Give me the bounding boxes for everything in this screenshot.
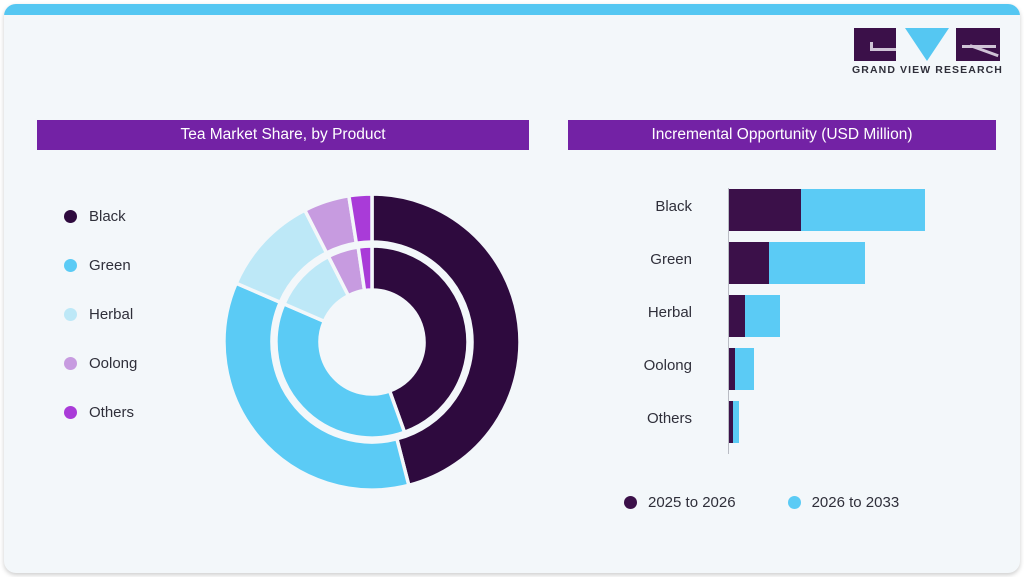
bar-category-label: Green (650, 251, 692, 268)
bar-segment-2026-to-2033[interactable] (801, 189, 925, 231)
legend-color-dot-icon (624, 496, 637, 509)
incremental-opportunity-bar-chart: BlackGreenHerbalOolongOthers (604, 184, 984, 454)
logo-g-bar (870, 48, 896, 51)
legend-color-dot-icon (64, 357, 77, 370)
legend-item-label: Oolong (89, 355, 137, 372)
donut-inner-ring (276, 246, 468, 438)
legend-item-label: Green (89, 257, 131, 274)
logo-letter-r-icon (956, 28, 1000, 61)
bar-category-label: Oolong (644, 357, 692, 374)
bar-category-label: Others (647, 410, 692, 427)
legend-item-others[interactable]: Others (64, 388, 137, 437)
bar-segment-2026-to-2033[interactable] (745, 295, 780, 337)
bar-track (729, 242, 865, 284)
legend-item-label: Others (89, 404, 134, 421)
bar-track (729, 348, 754, 390)
logo-letter-g-icon (854, 28, 896, 61)
legend-color-dot-icon (64, 406, 77, 419)
bar-row-herbal: Herbal (604, 290, 984, 342)
donut-legend: Black Green Herbal Oolong Others (64, 192, 137, 437)
donut-svg (202, 172, 542, 512)
bar-track (729, 189, 925, 231)
logo-letter-v-icon (905, 28, 949, 61)
bar-legend-label: 2025 to 2026 (648, 494, 736, 511)
legend-color-dot-icon (64, 308, 77, 321)
bar-row-green: Green (604, 237, 984, 289)
bar-segment-2026-to-2033[interactable] (735, 348, 754, 390)
bar-chart-legend: 2025 to 2026 2026 to 2033 (624, 494, 951, 511)
donut-outer-ring (224, 194, 520, 490)
bar-segment-2026-to-2033[interactable] (733, 401, 739, 443)
legend-item-green[interactable]: Green (64, 241, 137, 290)
bar-track (729, 401, 739, 443)
legend-color-dot-icon (64, 210, 77, 223)
bar-category-label: Black (655, 198, 692, 215)
bar-legend-label: 2026 to 2033 (812, 494, 900, 511)
legend-item-label: Black (89, 208, 126, 225)
accent-top-bar (4, 4, 1020, 15)
bar-row-others: Others (604, 396, 984, 448)
bar-track (729, 295, 780, 337)
legend-item-black[interactable]: Black (64, 192, 137, 241)
bar-legend-item-2026-2033[interactable]: 2026 to 2033 (788, 494, 900, 511)
left-panel-title: Tea Market Share, by Product (37, 120, 529, 150)
right-panel-title: Incremental Opportunity (USD Million) (568, 120, 996, 150)
bar-segment-2025-to-2026[interactable] (729, 242, 769, 284)
bar-row-black: Black (604, 184, 984, 236)
legend-item-oolong[interactable]: Oolong (64, 339, 137, 388)
bar-segment-2026-to-2033[interactable] (769, 242, 866, 284)
legend-color-dot-icon (788, 496, 801, 509)
bar-row-oolong: Oolong (604, 343, 984, 395)
infographic-card: GRAND VIEW RESEARCH Tea Market Share, by… (4, 4, 1020, 573)
legend-item-label: Herbal (89, 306, 133, 323)
brand-name: GRAND VIEW RESEARCH (852, 64, 1002, 76)
bar-legend-item-2025-2026[interactable]: 2025 to 2026 (624, 494, 736, 511)
bar-segment-2025-to-2026[interactable] (729, 295, 745, 337)
gvr-logo-icon (852, 28, 1002, 61)
brand-logo: GRAND VIEW RESEARCH (852, 28, 1002, 80)
bar-segment-2025-to-2026[interactable] (729, 189, 801, 231)
bar-category-label: Herbal (648, 304, 692, 321)
legend-color-dot-icon (64, 259, 77, 272)
legend-item-herbal[interactable]: Herbal (64, 290, 137, 339)
nested-donut-chart (202, 172, 542, 512)
